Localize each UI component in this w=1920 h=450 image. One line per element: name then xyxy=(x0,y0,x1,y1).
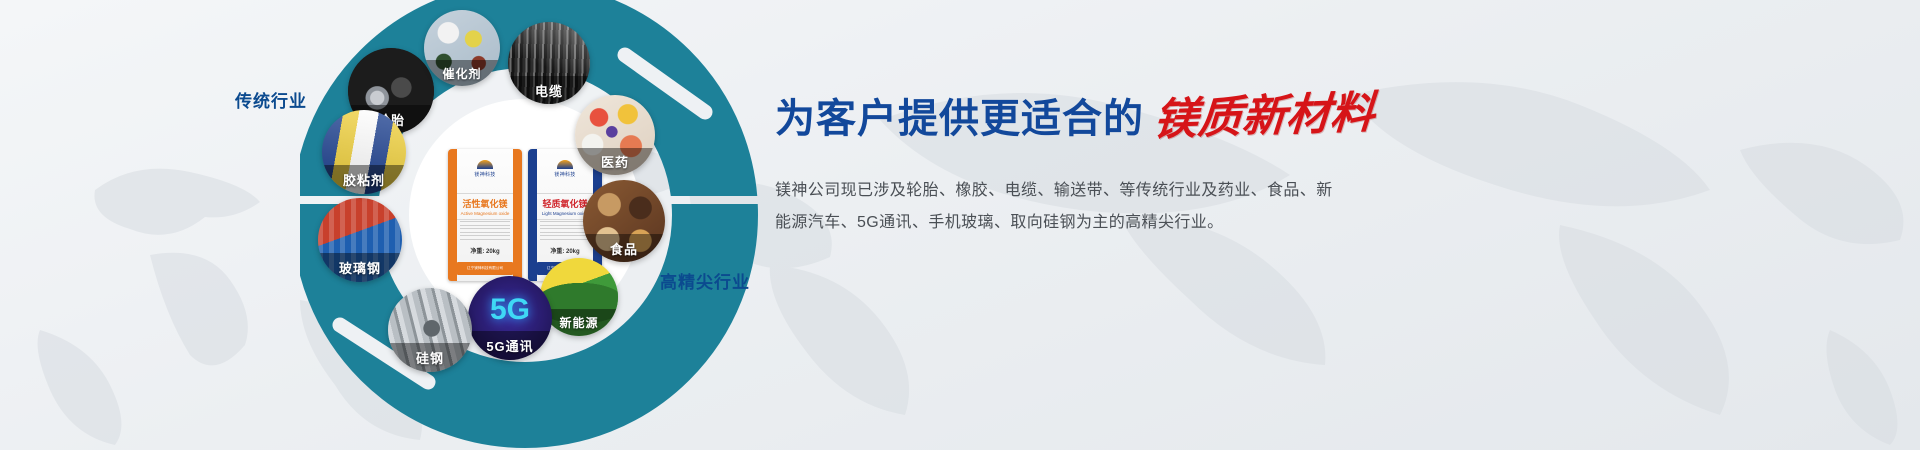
banner-headline: 为客户提供更适合的 镁质新材料 xyxy=(775,95,1555,139)
industry-node-food[interactable]: 食品 xyxy=(583,180,665,262)
description-line-2: 能源汽车、5G通讯、手机玻璃、取向硅钢为主的高精尖行业。 xyxy=(775,207,1375,239)
industry-node-catalyst[interactable]: 催化剂 xyxy=(424,10,500,86)
bag-net-weight-1: 净重: 20kg xyxy=(448,246,522,255)
industry-node-cable[interactable]: 电缆 xyxy=(508,22,590,104)
banner-description: 镁神公司现已涉及轮胎、橡胶、电缆、输送带、等传统行业及药业、食品、新 能源汽车、… xyxy=(775,175,1375,239)
node-label-5g: 5G通讯 xyxy=(468,331,552,360)
headline-red-calligraphy: 镁质新材料 xyxy=(1152,91,1376,143)
industry-node-silicon-steel[interactable]: 硅钢 xyxy=(388,288,472,372)
description-line-1: 镁神公司现已涉及轮胎、橡胶、电缆、输送带、等传统行业及药业、食品、新 xyxy=(775,175,1375,207)
product-bag-active-mgo: 镁神科技 活性氧化镁 Active Magnesium oxide 净重: 20… xyxy=(448,149,522,281)
node-label-silicon-steel: 硅钢 xyxy=(388,343,472,372)
industry-node-pharma[interactable]: 医药 xyxy=(575,95,655,175)
bag-name-en-1: Active Magnesium oxide xyxy=(457,211,513,216)
industry-node-frp[interactable]: 玻璃钢 xyxy=(318,198,402,282)
bag-brand-1: 镁神科技 xyxy=(448,160,522,178)
banner-copy: 为客户提供更适合的 镁质新材料 镁神公司现已涉及轮胎、橡胶、电缆、输送带、等传统… xyxy=(775,95,1555,239)
node-label-frp: 玻璃钢 xyxy=(318,253,402,282)
industry-node-adhesive[interactable]: 胶粘剂 xyxy=(322,110,406,194)
node-label-adhesive: 胶粘剂 xyxy=(322,165,406,194)
bag-company-1: 辽宁镁神科技有限公司 xyxy=(457,262,513,275)
industry-ring-infographic: 镁神科技 活性氧化镁 Active Magnesium oxide 净重: 20… xyxy=(300,0,820,450)
industry-node-5g[interactable]: 5G 5G通讯 xyxy=(468,276,552,360)
node-label-pharma: 医药 xyxy=(575,148,655,175)
ring-label-high-tech: 高精尖行业 xyxy=(660,268,750,293)
bag-name-cn-1: 活性氧化镁 xyxy=(457,197,513,210)
headline-blue-text: 为客户提供更适合的 xyxy=(775,99,1144,139)
ring-label-traditional: 传统行业 xyxy=(235,87,307,112)
node-label-catalyst: 催化剂 xyxy=(424,60,500,86)
